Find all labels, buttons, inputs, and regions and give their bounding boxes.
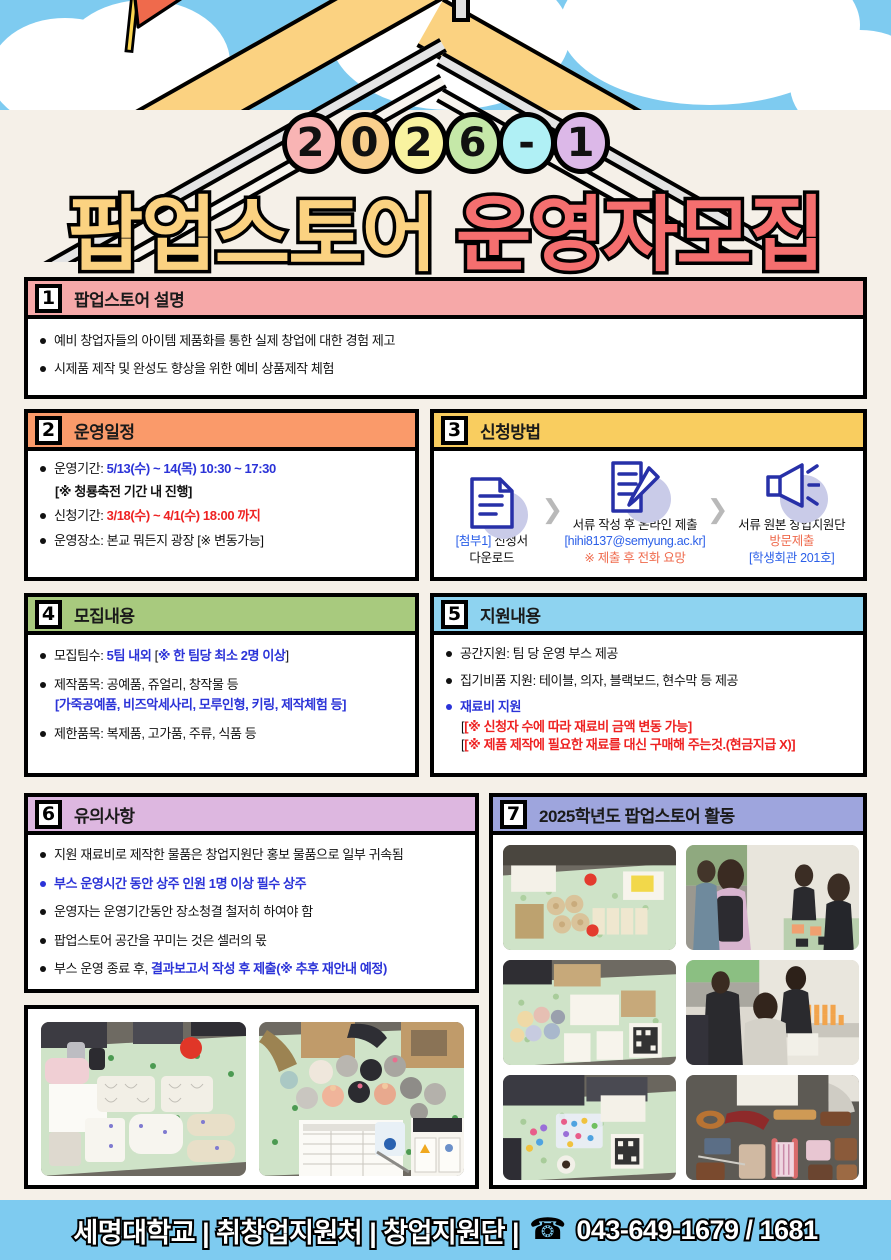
page-title-recruit: 운영자모집	[456, 190, 823, 281]
list-item: 집기비품 지원: 테이블, 의자, 블랙보드, 현수막 등 제공	[444, 672, 853, 690]
bullet-icon	[446, 678, 452, 684]
section-4-recruit-details: 4 모집내용 모집팀수: 5팀 내외 [※ 한 팀당 최소 2명 이상] 제작품…	[24, 593, 419, 777]
download-label: 다운로드	[456, 550, 528, 566]
list-item-text: 시제품 제작 및 완성도 향상을 위한 예비 상품제작 체험	[54, 360, 853, 378]
megaphone-icon	[746, 459, 838, 515]
page-title-popup: 팝업스토어	[68, 190, 435, 281]
team-count-value: 5팀 내외	[107, 648, 152, 663]
booth-keyring-plush-photo	[259, 1022, 464, 1176]
note-1-text: 지원 재료비로 제작한 물품은 창업지원단 홍보 물품으로 일부 귀속됨	[54, 846, 465, 864]
section-6-body: 지원 재료비로 제작한 물품은 창업지원단 홍보 물품으로 일부 귀속됨 부스 …	[28, 835, 475, 991]
material-note-2: [※ 제품 제작에 필요한 재료를 대신 구매해 주는것.(현금지급 X)]	[464, 737, 795, 752]
year-badges: 2026-1	[0, 112, 891, 174]
apply-step-2-text: 서류 작성 후 온라인 제출 [hihi8137@semyung.ac.kr] …	[565, 517, 706, 566]
note-3-text: 운영자는 운영기간동안 장소청결 철저히 하여야 함	[54, 903, 465, 921]
bottom-photo-panel	[24, 1005, 479, 1189]
section-6-header: 6 유의사항	[28, 797, 475, 835]
bottom-photo-grid	[41, 1022, 464, 1176]
section-4-title: 모집내용	[74, 602, 135, 627]
booth-table-donuts-photo	[503, 845, 676, 950]
year-badge-1: 0	[336, 112, 394, 174]
operation-period-label: 운영기간:	[54, 461, 107, 476]
bullet-icon	[40, 852, 46, 858]
apply-step-visit-submit: 서류 원본 창업지원단 방문제출 [학생회관 201호]	[728, 459, 855, 566]
team-size-note: ※ 한 팀당 최소 2명 이상	[158, 648, 286, 663]
section-5-title: 지원내용	[480, 602, 541, 627]
year-badge-0: 2	[282, 112, 340, 174]
apply-steps: [첨부1] 신청서 다운로드 ❯	[434, 451, 863, 572]
list-item: 팝업스토어 공간을 꾸미는 것은 셀러의 몫	[38, 932, 465, 950]
apply-step-online-submit: 서류 작성 후 온라인 제출 [hihi8137@semyung.ac.kr] …	[563, 459, 706, 566]
bullet-icon	[40, 881, 46, 887]
email-address[interactable]: [hihi8137@semyung.ac.kr]	[565, 534, 706, 548]
photo-art	[503, 960, 676, 1065]
poster-root: 2026-1 팝업스토어 운영자모집 1 팝업스토어 설명 예비 창업자들의 아…	[0, 0, 891, 1260]
section-2-header: 2 운영일정	[28, 413, 415, 451]
section-3-title: 신청방법	[480, 418, 541, 443]
product-types-text: 제작품목: 공예품, 쥬얼리, 창작물 등	[54, 676, 405, 694]
photo-art	[259, 1022, 464, 1176]
restricted-products-text: 제한품목: 복제품, 고가품, 주류, 식품 등	[54, 725, 405, 743]
photo-art	[686, 960, 859, 1065]
photo-art	[41, 1022, 246, 1176]
section-6-notes: 6 유의사항 지원 재료비로 제작한 물품은 창업지원단 홍보 물품으로 일부 …	[24, 793, 479, 993]
chevron-right-icon: ❯	[542, 494, 564, 525]
document-pencil-icon	[589, 459, 681, 515]
booth-visitors-tent-photo	[686, 845, 859, 950]
section-3-apply-method: 3 신청방법 [첨부1] 신청서 다운로드	[430, 409, 867, 581]
section-2-schedule: 2 운영일정 운영기간: 5/13(수) ~ 14(목) 10:30 ~ 17:…	[24, 409, 419, 581]
footer-phone-text: 043-649-1679 / 1681	[576, 1215, 817, 1246]
apply-step-3-text: 서류 원본 창업지원단 방문제출 [학생회관 201호]	[738, 517, 845, 566]
list-item: 부스 운영시간 동안 상주 인원 1명 이상 필수 상주	[38, 875, 465, 893]
bullet-icon	[40, 682, 46, 688]
megaphone-icon-glyph	[764, 462, 820, 512]
photo-art	[503, 1075, 676, 1180]
product-examples-text: [가죽공예품, 비즈악세사리, 모루인형, 키링, 제작체험 등]	[55, 696, 405, 714]
apply-step-download: [첨부1] 신청서 다운로드	[442, 475, 542, 566]
section-1-title: 팝업스토어 설명	[74, 286, 184, 311]
list-item: 부스 운영 종료 후, 결과보고서 작성 후 제출(※ 추후 재안내 예정)	[38, 960, 465, 978]
list-item: 시제품 제작 및 완성도 향상을 위한 예비 상품제작 체험	[38, 360, 853, 378]
list-item: 제한품목: 복제품, 고가품, 주류, 식품 등	[38, 725, 405, 743]
section-5-header: 5 지원내용	[434, 597, 863, 635]
material-note-1: [※ 신청자 수에 따라 재료비 금액 변동 가능]	[464, 719, 692, 734]
year-badge-3: 6	[444, 112, 502, 174]
section-1-description: 1 팝업스토어 설명 예비 창업자들의 아이템 제품화를 통한 실제 창업에 대…	[24, 277, 867, 399]
bracket-close: ]	[285, 648, 288, 663]
apply-period-value: 3/18(수) ~ 4/1(수) 18:00 까지	[107, 508, 261, 523]
booth-leather-goods-photo	[686, 1075, 859, 1180]
visit-submit-label: 방문제출	[738, 533, 845, 549]
section-number-badge: 1	[35, 284, 62, 313]
list-item: 신청기간: 3/18(수) ~ 4/1(수) 18:00 까지	[38, 507, 405, 525]
section-1-body: 예비 창업자들의 아이템 제품화를 통한 실제 창업에 대한 경험 제고 시제품…	[28, 319, 863, 390]
note-5-report: 결과보고서 작성 후 제출(※ 추후 재안내 예정)	[151, 961, 387, 976]
team-count-label: 모집팀수:	[54, 648, 107, 663]
material-support-text: 재료비 지원	[460, 698, 853, 716]
note-5-prefix: 부스 운영 종료 후,	[54, 961, 151, 976]
footer-bar: 세명대학교 | 취창업지원처 | 창업지원단 | ☎ 043-649-1679 …	[0, 1200, 891, 1260]
attachment-label: [첨부1]	[456, 534, 491, 548]
note-4-text: 팝업스토어 공간을 꾸미는 것은 셀러의 몫	[54, 932, 465, 950]
bullet-icon	[40, 938, 46, 944]
location-text: 운영장소: 본교 뭐든지 광장 [※ 변동가능]	[54, 532, 405, 550]
section-4-body: 모집팀수: 5팀 내외 [※ 한 팀당 최소 2명 이상] 제작품목: 공예품,…	[28, 635, 415, 755]
section-6-title: 유의사항	[74, 802, 135, 827]
roof-finial-icon	[452, 0, 470, 22]
bullet-icon	[40, 466, 46, 472]
call-after-submit-note: ※ 제출 후 전화 요망	[565, 550, 706, 566]
list-item: 운영장소: 본교 뭐든지 광장 [※ 변동가능]	[38, 532, 405, 550]
document-icon-glyph	[469, 476, 515, 530]
section-5-support-details: 5 지원내용 공간지원: 팀 당 운영 부스 제공 집기비품 지원: 테이블, …	[430, 593, 867, 777]
list-item: 지원 재료비로 제작한 물품은 창업지원단 홍보 물품으로 일부 귀속됨	[38, 846, 465, 864]
bullet-icon	[446, 704, 452, 710]
chevron-right-icon: ❯	[707, 494, 729, 525]
section-7-header: 7 2025학년도 팝업스토어 활동	[493, 797, 863, 835]
bullet-icon	[40, 366, 46, 372]
list-item: 운영기간: 5/13(수) ~ 14(목) 10:30 ~ 17:30	[38, 460, 405, 478]
year-badge-2: 2	[390, 112, 448, 174]
list-item: 운영자는 운영기간동안 장소청결 철저히 하여야 함	[38, 903, 465, 921]
section-2-title: 운영일정	[74, 418, 135, 443]
section-3-header: 3 신청방법	[434, 413, 863, 451]
room-location-label: [학생회관 201호]	[738, 550, 845, 566]
list-item-text: 예비 창업자들의 아이템 제품화를 통한 실제 창업에 대한 경험 제고	[54, 332, 853, 350]
section-number-badge: 6	[35, 800, 62, 829]
section-number-badge: 2	[35, 416, 62, 445]
year-badge-5: 1	[552, 112, 610, 174]
bullet-icon	[40, 338, 46, 344]
section-4-header: 4 모집내용	[28, 597, 415, 635]
year-badge-4: -	[498, 112, 556, 174]
booth-jewelry-display-photo	[41, 1022, 246, 1176]
document-pencil-icon-glyph	[609, 460, 661, 514]
activity-photo-grid	[503, 845, 859, 1180]
photo-art	[686, 1075, 859, 1180]
photo-art	[503, 845, 676, 950]
section-7-past-activity: 7 2025학년도 팝업스토어 활동	[489, 793, 867, 1189]
section-5-body: 공간지원: 팀 당 운영 부스 제공 집기비품 지원: 테이블, 의자, 블랙보…	[434, 635, 863, 767]
document-icon	[446, 475, 538, 531]
flag-icon	[94, 0, 210, 58]
apply-period-label: 신청기간:	[54, 508, 107, 523]
space-support-text: 공간지원: 팀 당 운영 부스 제공	[460, 645, 853, 663]
equipment-support-text: 집기비품 지원: 테이블, 의자, 블랙보드, 현수막 등 제공	[460, 672, 853, 690]
section-7-title: 2025학년도 팝업스토어 활동	[539, 802, 735, 827]
note-2-text: 부스 운영시간 동안 상주 인원 1명 이상 필수 상주	[54, 875, 465, 893]
list-item: 재료비 지원	[444, 698, 853, 716]
bullet-icon	[40, 513, 46, 519]
booth-plush-toys-photo	[503, 960, 676, 1065]
operation-period-note: [※ 청룡축전 기간 내 진행]	[55, 483, 405, 501]
list-item: 모집팀수: 5팀 내외 [※ 한 팀당 최소 2명 이상]	[38, 647, 405, 665]
section-number-badge: 4	[35, 600, 62, 629]
operation-period-value: 5/13(수) ~ 14(목) 10:30 ~ 17:30	[107, 461, 276, 476]
bullet-icon	[446, 651, 452, 657]
section-number-badge: 5	[441, 600, 468, 629]
booth-beads-craft-photo	[503, 1075, 676, 1180]
section-number-badge: 3	[441, 416, 468, 445]
phone-icon: ☎	[529, 1215, 566, 1245]
section-2-body: 운영기간: 5/13(수) ~ 14(목) 10:30 ~ 17:30 [※ 청…	[28, 451, 415, 562]
bullet-icon	[40, 538, 46, 544]
list-item: 공간지원: 팀 당 운영 부스 제공	[444, 645, 853, 663]
apply-step-1-text: [첨부1] 신청서 다운로드	[456, 533, 528, 566]
footer-org-text: 세명대학교 | 취창업지원처 | 창업지원단 |	[73, 1211, 519, 1250]
bullet-icon	[40, 653, 46, 659]
bullet-icon	[40, 966, 46, 972]
bullet-icon	[40, 731, 46, 737]
section-number-badge: 7	[500, 800, 527, 829]
bullet-icon	[40, 909, 46, 915]
list-item: 제작품목: 공예품, 쥬얼리, 창작물 등	[38, 676, 405, 694]
page-title: 팝업스토어 운영자모집	[0, 168, 891, 287]
booth-students-browsing-photo	[686, 960, 859, 1065]
list-item: 예비 창업자들의 아이템 제품화를 통한 실제 창업에 대한 경험 제고	[38, 332, 853, 350]
photo-art	[686, 845, 859, 950]
